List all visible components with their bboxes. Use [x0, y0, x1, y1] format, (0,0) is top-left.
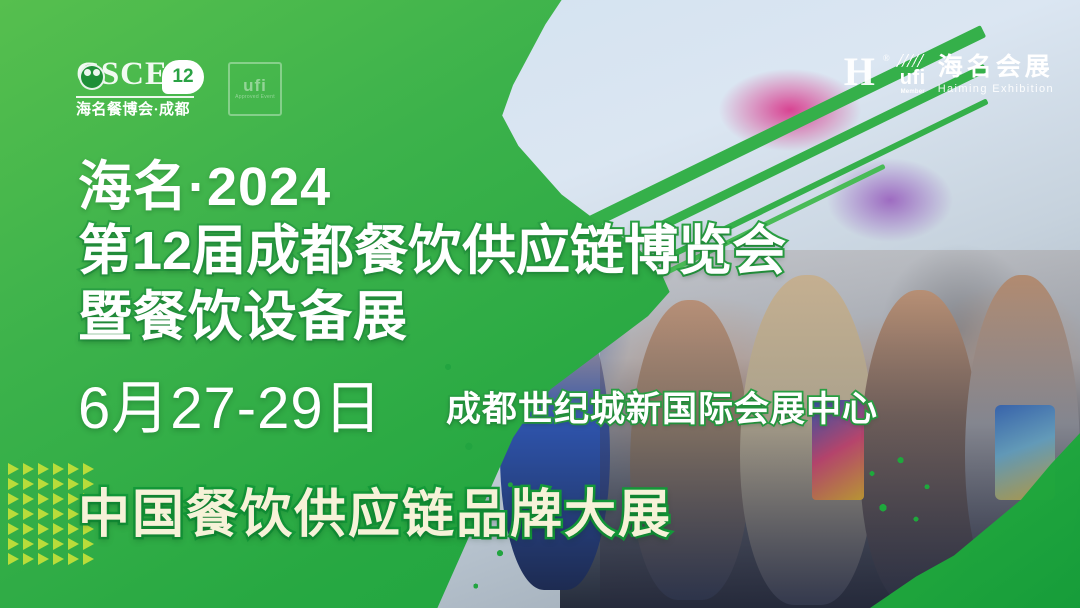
haiming-name-block: 海名会展 Haiming Exhibition: [938, 53, 1054, 96]
triangle-right-icon: [53, 493, 64, 505]
event-date: 6月27-29日: [78, 361, 383, 445]
ufi-label: ufi: [900, 68, 926, 88]
ufi-member-badge: ufi Member: [898, 54, 928, 96]
ufi-approved-event-badge: ufi Approved Event: [228, 62, 282, 116]
event-tagline: 中国餐饮供应链品牌大展: [78, 472, 672, 547]
triangle-right-icon: [38, 538, 49, 550]
triangle-right-icon: [83, 553, 94, 565]
triangle-right-icon: [68, 553, 79, 565]
haiming-name-cn: 海名会展: [938, 53, 1054, 82]
triangle-right-icon: [38, 523, 49, 535]
headline-equipment-subtitle: 暨餐饮设备展: [78, 272, 408, 351]
csce-chinese-name: 海名餐博会·成都: [76, 98, 201, 119]
triangle-right-icon: [38, 463, 49, 475]
triangle-right-icon: [38, 478, 49, 490]
triangle-right-icon: [23, 523, 34, 535]
triangle-right-icon: [23, 463, 34, 475]
haiming-name-en: Haiming Exhibition: [938, 82, 1054, 96]
triangle-right-icon: [23, 478, 34, 490]
triangle-right-icon: [8, 493, 19, 505]
ufi-wave-icon: [894, 54, 931, 67]
triangle-right-icon: [53, 538, 64, 550]
triangle-right-icon: [53, 463, 64, 475]
panda-icon: [79, 64, 105, 90]
triangle-right-icon: [23, 508, 34, 520]
triangle-right-icon: [23, 538, 34, 550]
haiming-exhibition-logo: H ® ufi Member 海名会展 Haiming Exhibition: [844, 52, 1054, 98]
ufi-member-label: Member: [901, 88, 925, 96]
triangle-right-icon: [38, 493, 49, 505]
triangle-right-icon: [8, 508, 19, 520]
haiming-monogram: H ®: [844, 52, 888, 98]
triangle-right-icon: [23, 493, 34, 505]
triangle-right-icon: [8, 463, 19, 475]
edition-badge: 12: [162, 60, 204, 94]
triangle-right-icon: [53, 553, 64, 565]
csce-logo: CSCE 12 海名餐博会·成都: [76, 56, 206, 114]
triangle-right-icon: [8, 553, 19, 565]
triangle-right-icon: [8, 478, 19, 490]
green-corner-speckle-decor: [850, 445, 960, 540]
triangle-right-icon: [8, 523, 19, 535]
triangle-right-icon: [23, 553, 34, 565]
triangle-right-icon: [53, 478, 64, 490]
registered-trademark-icon: ®: [883, 54, 890, 63]
ufi-badge-label: ufi: [243, 77, 267, 94]
haiming-monogram-letter: H: [844, 49, 875, 94]
triangle-right-icon: [38, 553, 49, 565]
triangle-right-icon: [53, 523, 64, 535]
triangle-right-icon: [8, 538, 19, 550]
triangle-right-icon: [53, 508, 64, 520]
ufi-badge-sublabel: Approved Event: [235, 94, 275, 101]
triangle-right-icon: [38, 508, 49, 520]
event-venue: 成都世纪城新国际会展中心: [446, 381, 878, 432]
exhibition-promo-banner: CSCE 12 海名餐博会·成都 ufi Approved Event H ® …: [0, 0, 1080, 608]
